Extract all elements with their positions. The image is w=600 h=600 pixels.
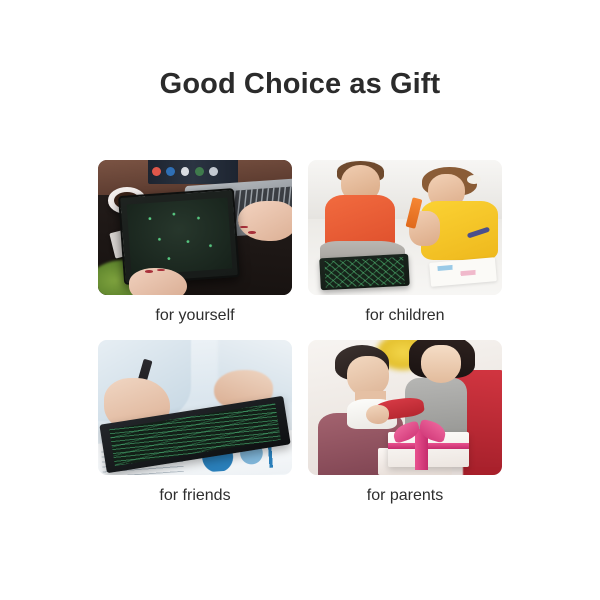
daughter-hand-on-shoulder [366, 405, 389, 424]
monitor-dot [181, 167, 190, 176]
monitor-dot [152, 167, 161, 176]
gift-promo-page: Good Choice as Gift [0, 0, 600, 600]
monitor-dot [166, 167, 175, 176]
gift-ribbon-horizontal [388, 443, 469, 450]
photo-for-children[interactable] [308, 160, 502, 295]
caption-for-yourself: for yourself [98, 305, 292, 327]
caption-for-friends: for friends [98, 485, 292, 507]
girl-hair-clip [467, 175, 481, 184]
gift-cell-for-parents[interactable]: for parents [308, 340, 502, 507]
gift-cell-for-friends[interactable]: for friends [98, 340, 292, 507]
photo-for-yourself[interactable] [98, 160, 292, 295]
gift-grid: for yourself [98, 160, 502, 507]
gift-cell-for-yourself[interactable]: for yourself [98, 160, 292, 327]
lcd-writing-tablet [319, 254, 410, 291]
tablet-doodles [127, 198, 233, 276]
page-title: Good Choice as Gift [0, 66, 600, 102]
monitor [148, 160, 237, 184]
tablet-screen [127, 198, 233, 276]
fingernail [145, 270, 153, 272]
daughter-face [421, 345, 462, 383]
fingernail [248, 231, 256, 234]
gift-cell-for-children[interactable]: for children [308, 160, 502, 327]
monitor-dot [195, 167, 204, 176]
tablet-screen [324, 256, 404, 287]
photo-for-friends[interactable] [98, 340, 292, 475]
photo-for-parents[interactable] [308, 340, 502, 475]
caption-for-children: for children [308, 305, 502, 327]
fingernail [157, 269, 165, 271]
monitor-dot [209, 167, 218, 176]
fingernail [240, 226, 248, 229]
caption-for-parents: for parents [308, 485, 502, 507]
